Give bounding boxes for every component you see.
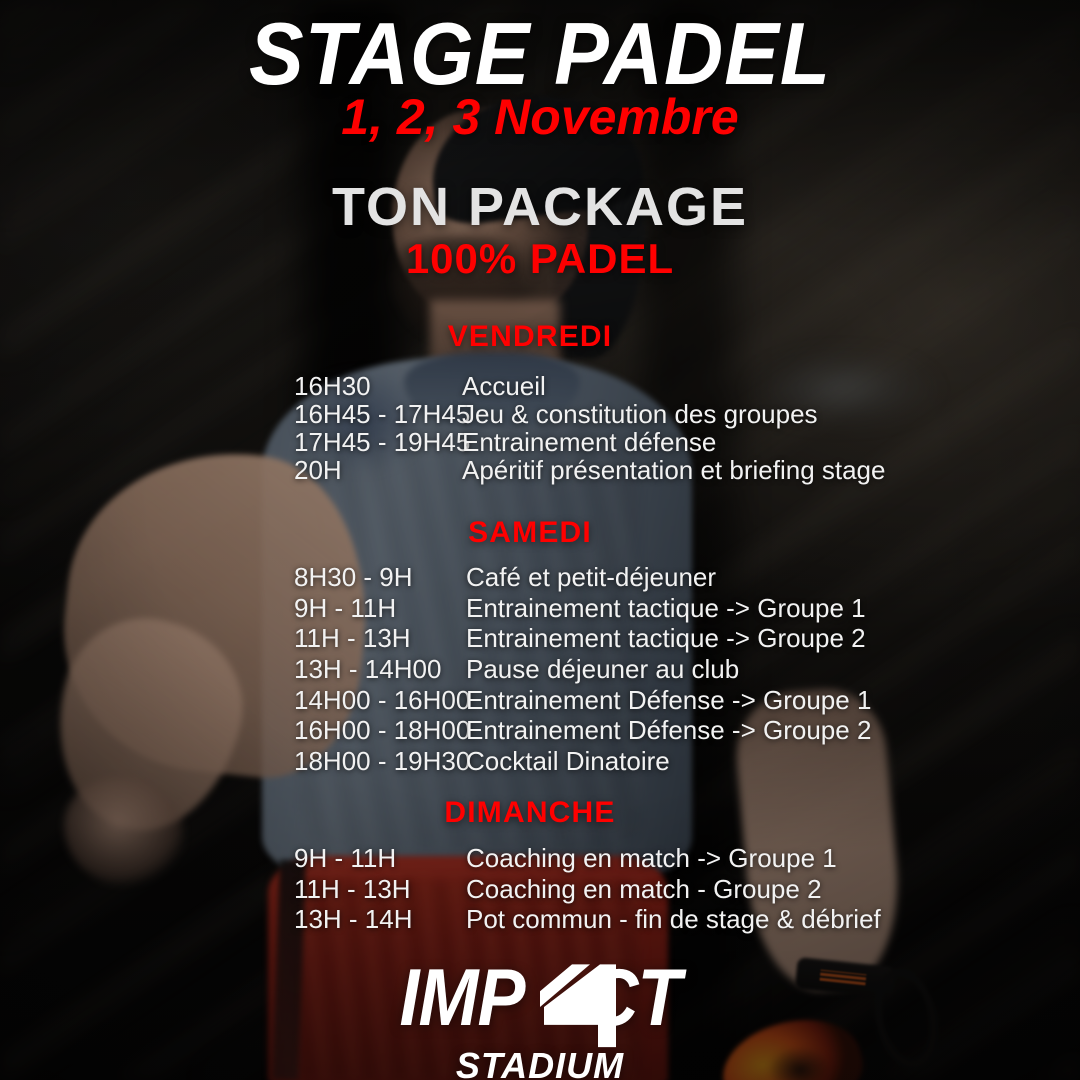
schedule-row: 13H - 14H00 Pause déjeuner au club	[0, 654, 1080, 685]
schedule-samedi: 8H30 - 9H Café et petit-déjeuner 9H - 11…	[0, 562, 1080, 777]
poster-content: STAGE PADEL 1, 2, 3 Novembre TON PACKAGE…	[0, 0, 1080, 1080]
schedule-time: 9H - 11H	[0, 593, 466, 624]
schedule-description: Entrainement tactique -> Groupe 2	[466, 623, 1080, 654]
schedule-time: 13H - 14H	[0, 904, 466, 935]
schedule-time: 20H	[0, 456, 462, 484]
schedule-description: Accueil	[462, 372, 1080, 400]
schedule-row: 11H - 13H Entrainement tactique -> Group…	[0, 623, 1080, 654]
brand-logo-ct: CT	[587, 953, 681, 1043]
schedule-row: 9H - 11H Entrainement tactique -> Groupe…	[0, 593, 1080, 624]
schedule-description: Entrainement tactique -> Groupe 1	[466, 593, 1080, 624]
day-header-dimanche: DIMANCHE	[0, 796, 1070, 830]
schedule-time: 9H - 11H	[0, 843, 466, 874]
schedule-time: 13H - 14H00	[0, 654, 466, 685]
schedule-dimanche: 9H - 11H Coaching en match -> Groupe 1 1…	[0, 843, 1080, 935]
schedule-time: 16H30	[0, 372, 462, 400]
schedule-row: 13H - 14H Pot commun - fin de stage & dé…	[0, 904, 1080, 935]
brand-logo: IMPCT STADIUM	[0, 962, 1080, 1080]
schedule-description: Pause déjeuner au club	[466, 654, 1080, 685]
schedule-row: 16H00 - 18H00 Entrainement Défense -> Gr…	[0, 715, 1080, 746]
schedule-row: 8H30 - 9H Café et petit-déjeuner	[0, 562, 1080, 593]
schedule-time: 14H00 - 16H00	[0, 685, 466, 716]
schedule-time: 8H30 - 9H	[0, 562, 466, 593]
schedule-time: 17H45 - 19H45	[0, 428, 462, 456]
schedule-row: 14H00 - 16H00 Entrainement Défense -> Gr…	[0, 685, 1080, 716]
poster-canvas: STAGE PADEL 1, 2, 3 Novembre TON PACKAGE…	[0, 0, 1080, 1080]
schedule-description: Jeu & constitution des groupes	[462, 400, 1080, 428]
brand-logo-wordmark: IMPCT	[400, 958, 681, 1039]
schedule-description: Coaching en match - Groupe 2	[466, 874, 1080, 905]
schedule-description: Entrainement défense	[462, 428, 1080, 456]
day-header-vendredi: VENDREDI	[0, 320, 1070, 354]
schedule-row: 16H30 Accueil	[0, 372, 1080, 400]
package-subheading: 100% PADEL	[0, 238, 1080, 280]
schedule-row: 16H45 - 17H45 Jeu & constitution des gro…	[0, 400, 1080, 428]
schedule-time: 16H00 - 18H00	[0, 715, 466, 746]
event-dates: 1, 2, 3 Novembre	[0, 92, 1080, 142]
day-header-samedi: SAMEDI	[0, 516, 1070, 550]
schedule-row: 18H00 - 19H30 Cocktail Dinatoire	[0, 746, 1080, 777]
schedule-description: Apéritif présentation et briefing stage	[462, 456, 1080, 484]
package-heading: TON PACKAGE	[0, 180, 1080, 234]
schedule-description: Coaching en match -> Groupe 1	[466, 843, 1080, 874]
schedule-row: 9H - 11H Coaching en match -> Groupe 1	[0, 843, 1080, 874]
schedule-vendredi: 16H30 Accueil 16H45 - 17H45 Jeu & consti…	[0, 372, 1080, 484]
schedule-time: 11H - 13H	[0, 623, 466, 654]
schedule-description: Entrainement Défense -> Groupe 2	[466, 715, 1080, 746]
page-title: STAGE PADEL	[0, 11, 1080, 100]
brand-logo-imp: IMP	[400, 953, 525, 1043]
schedule-description: Entrainement Défense -> Groupe 1	[466, 685, 1080, 716]
schedule-description: Café et petit-déjeuner	[466, 562, 1080, 593]
schedule-time: 16H45 - 17H45	[0, 400, 462, 428]
schedule-row: 17H45 - 19H45 Entrainement défense	[0, 428, 1080, 456]
schedule-row: 20H Apéritif présentation et briefing st…	[0, 456, 1080, 484]
schedule-row: 11H - 13H Coaching en match - Groupe 2	[0, 874, 1080, 905]
brand-logo-subtext: STADIUM	[0, 1048, 1080, 1080]
schedule-description: Cocktail Dinatoire	[466, 746, 1080, 777]
schedule-time: 18H00 - 19H30	[0, 746, 466, 777]
schedule-time: 11H - 13H	[0, 874, 466, 905]
schedule-description: Pot commun - fin de stage & débrief	[466, 904, 1080, 935]
